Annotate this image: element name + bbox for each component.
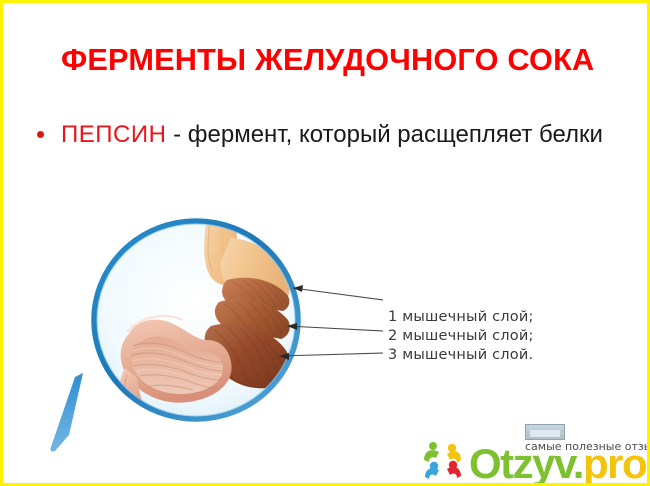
bullet-marker-icon <box>37 131 44 138</box>
logo-word-yellow: pro <box>583 440 646 486</box>
logo-wordmark[interactable]: Otzyv.pro <box>469 442 646 486</box>
legend-item-1: 1 мышечный слой; <box>388 308 534 327</box>
logo-word-green: Otzyv. <box>469 440 583 486</box>
leader-lines <box>253 283 393 378</box>
site-watermark-logo[interactable]: самые полезные отзывы Otzyv.pro <box>417 424 650 486</box>
legend-item-2: 2 мышечный слой; <box>388 327 534 346</box>
page-title: ФЕРМЕНТЫ ЖЕЛУДОЧНОГО СОКА <box>61 43 615 77</box>
slide-canvas: ФЕРМЕНТЫ ЖЕЛУДОЧНОГО СОКА ПЕПСИН - ферме… <box>0 0 650 486</box>
legend-list: 1 мышечный слой; 2 мышечный слой; 3 мыше… <box>388 308 534 365</box>
legend-item-3: 3 мышечный слой. <box>388 346 534 365</box>
bullet-item-text: ПЕПСИН - фермент, который расщепляет бел… <box>61 119 617 150</box>
otzyv-people-icon <box>421 438 467 482</box>
bullet-keyword: ПЕПСИН <box>61 121 166 148</box>
bullet-definition: - фермент, который расщепляет белки <box>166 121 603 148</box>
lens-tail-shape <box>45 373 85 455</box>
broken-image-placeholder-icon <box>525 424 565 440</box>
